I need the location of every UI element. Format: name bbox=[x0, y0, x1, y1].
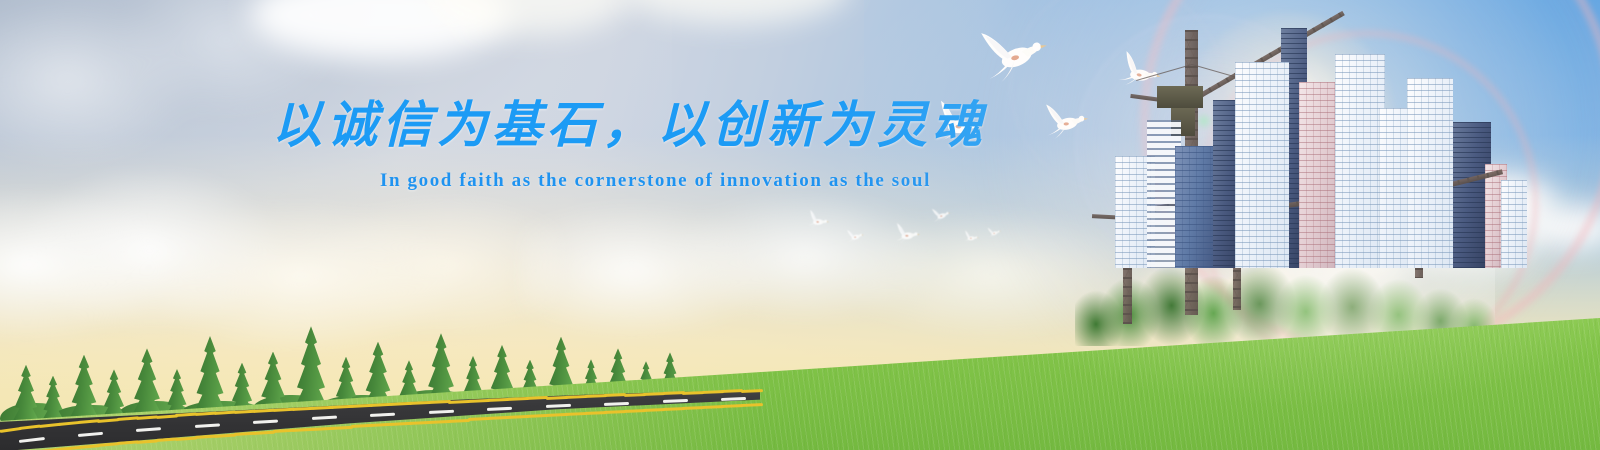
road-line-yellow-lower bbox=[370, 423, 392, 427]
road-line-yellow-upper bbox=[448, 400, 470, 404]
subheadline-english: In good faith as the cornerstone of inno… bbox=[272, 170, 992, 192]
road-line-yellow-upper bbox=[740, 389, 762, 393]
road-line-yellow-lower bbox=[389, 422, 411, 426]
road-line-yellow-lower bbox=[136, 439, 158, 444]
headline-block: 以诚信为基石，以创新为灵魂 In good faith as the corne… bbox=[272, 96, 992, 192]
road-line-yellow-lower bbox=[467, 417, 489, 421]
road-line-yellow-lower bbox=[448, 419, 470, 423]
road-line-yellow-lower bbox=[428, 420, 450, 424]
road-line-yellow-lower bbox=[292, 428, 314, 432]
road-line-yellow-lower bbox=[311, 427, 333, 431]
road-line-yellow-lower bbox=[506, 415, 528, 419]
road-line-yellow-lower bbox=[194, 435, 216, 439]
road-line-yellow-lower bbox=[409, 421, 431, 425]
road-line-yellow-lower bbox=[214, 433, 236, 437]
road-line-yellow-lower bbox=[643, 408, 665, 412]
road-line-yellow-upper bbox=[623, 393, 645, 397]
road-line-yellow-upper bbox=[682, 391, 704, 395]
road-line-yellow-lower bbox=[740, 403, 762, 407]
road-line-yellow-lower bbox=[682, 406, 704, 410]
road-line-yellow-lower bbox=[545, 413, 567, 417]
hero-banner: 以诚信为基石，以创新为灵魂 In good faith as the corne… bbox=[0, 0, 1600, 450]
building bbox=[1235, 62, 1289, 268]
road-line-yellow-lower bbox=[565, 412, 587, 416]
road-line-yellow-lower bbox=[233, 432, 255, 436]
road-dash bbox=[721, 397, 746, 401]
cloud-bank-left bbox=[0, 170, 560, 360]
city-skyline bbox=[1085, 0, 1505, 340]
road-line-yellow-lower bbox=[272, 429, 294, 433]
road-line-yellow-lower bbox=[604, 410, 626, 414]
road-line-yellow-upper bbox=[545, 396, 567, 400]
road-line-yellow-lower bbox=[97, 442, 119, 447]
building bbox=[1335, 54, 1385, 268]
road-line-yellow-lower bbox=[155, 438, 177, 443]
headline-chinese: 以诚信为基石，以创新为灵魂 bbox=[272, 96, 992, 154]
road-line-yellow-lower bbox=[721, 404, 743, 408]
road-line-yellow-lower bbox=[487, 416, 509, 420]
road-line-yellow-lower bbox=[662, 407, 684, 411]
road-line-yellow-lower bbox=[701, 405, 723, 409]
road-line-yellow-lower bbox=[253, 431, 275, 435]
road-line-yellow-lower bbox=[331, 425, 353, 429]
road-line-yellow-lower bbox=[350, 424, 372, 428]
building bbox=[1501, 180, 1527, 268]
road bbox=[0, 380, 760, 450]
road-line-yellow-lower bbox=[584, 411, 606, 415]
road-line-yellow-lower bbox=[526, 414, 548, 418]
road-line-yellow-lower bbox=[623, 409, 645, 413]
building bbox=[1407, 78, 1453, 268]
road-line-yellow-lower bbox=[77, 444, 99, 449]
road-line-yellow-lower bbox=[116, 441, 138, 446]
